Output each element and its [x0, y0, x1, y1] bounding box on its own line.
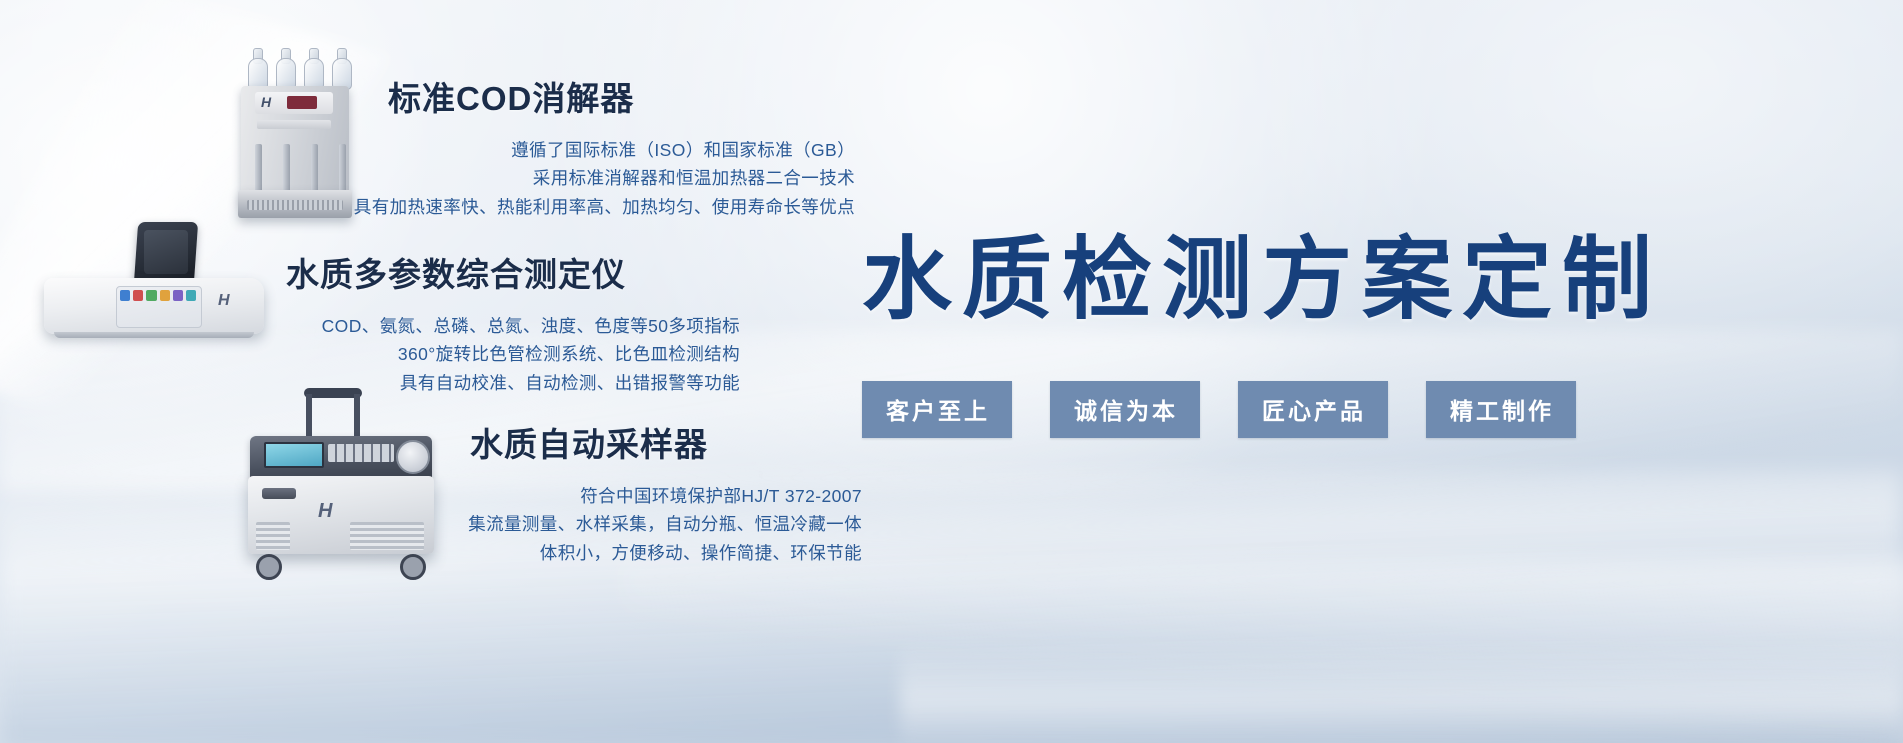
product-desc-line: 遵循了国际标准（ISO）和国家标准（GB）: [0, 136, 855, 164]
background-highlight-bottom: [900, 640, 1903, 743]
product-desc-line: 采用标准消解器和恒温加热器二合一技术: [0, 164, 855, 192]
promo-banner: H 标准COD消解器 遵循了国际标准（ISO）和国家标准（GB） 采用标准消解器…: [0, 0, 1903, 743]
product-title: 水质多参数综合测定仪: [0, 248, 760, 296]
product-block-multi-parameter-analyzer: 水质多参数综合测定仪 COD、氨氮、总磷、总氮、浊度、色度等50多项指标 360…: [0, 248, 760, 397]
slogan-badge-row: 客户至上 诚信为本 匠心产品 精工制作: [862, 381, 1576, 438]
product-desc-line: COD、氨氮、总磷、总氮、浊度、色度等50多项指标: [0, 312, 740, 340]
product-description: 遵循了国际标准（ISO）和国家标准（GB） 采用标准消解器和恒温加热器二合一技术…: [0, 136, 855, 221]
product-description: 符合中国环境保护部HJ/T 372-2007 集流量测量、水样采集，自动分瓶、恒…: [0, 482, 862, 567]
slogan-badge-customer-first[interactable]: 客户至上: [862, 381, 1012, 438]
slogan-badge-craftsmanship[interactable]: 匠心产品: [1238, 381, 1388, 438]
product-desc-line: 具有加热速率快、热能利用率高、加热均匀、使用寿命长等优点: [0, 193, 855, 221]
background-glow-right: [1200, 0, 1903, 400]
background-wave-bottom: [620, 560, 1903, 743]
product-description: COD、氨氮、总磷、总氮、浊度、色度等50多项指标 360°旋转比色管检测系统、…: [0, 312, 740, 397]
product-desc-line: 体积小，方便移动、操作简捷、环保节能: [0, 539, 862, 567]
banner-headline: 水质检测方案定制: [862, 233, 1822, 328]
slogan-badge-fine-making[interactable]: 精工制作: [1426, 381, 1576, 438]
product-title: 水质自动采样器: [0, 418, 880, 466]
slogan-badge-integrity[interactable]: 诚信为本: [1050, 381, 1200, 438]
product-title: 标准COD消解器: [0, 72, 880, 120]
product-desc-line: 符合中国环境保护部HJ/T 372-2007: [0, 482, 862, 510]
product-block-auto-water-sampler: 水质自动采样器 符合中国环境保护部HJ/T 372-2007 集流量测量、水样采…: [0, 418, 880, 567]
product-block-cod-digester: 标准COD消解器 遵循了国际标准（ISO）和国家标准（GB） 采用标准消解器和恒…: [0, 72, 880, 221]
product-desc-line: 360°旋转比色管检测系统、比色皿检测结构: [0, 340, 740, 368]
product-desc-line: 集流量测量、水样采集，自动分瓶、恒温冷藏一体: [0, 510, 862, 538]
